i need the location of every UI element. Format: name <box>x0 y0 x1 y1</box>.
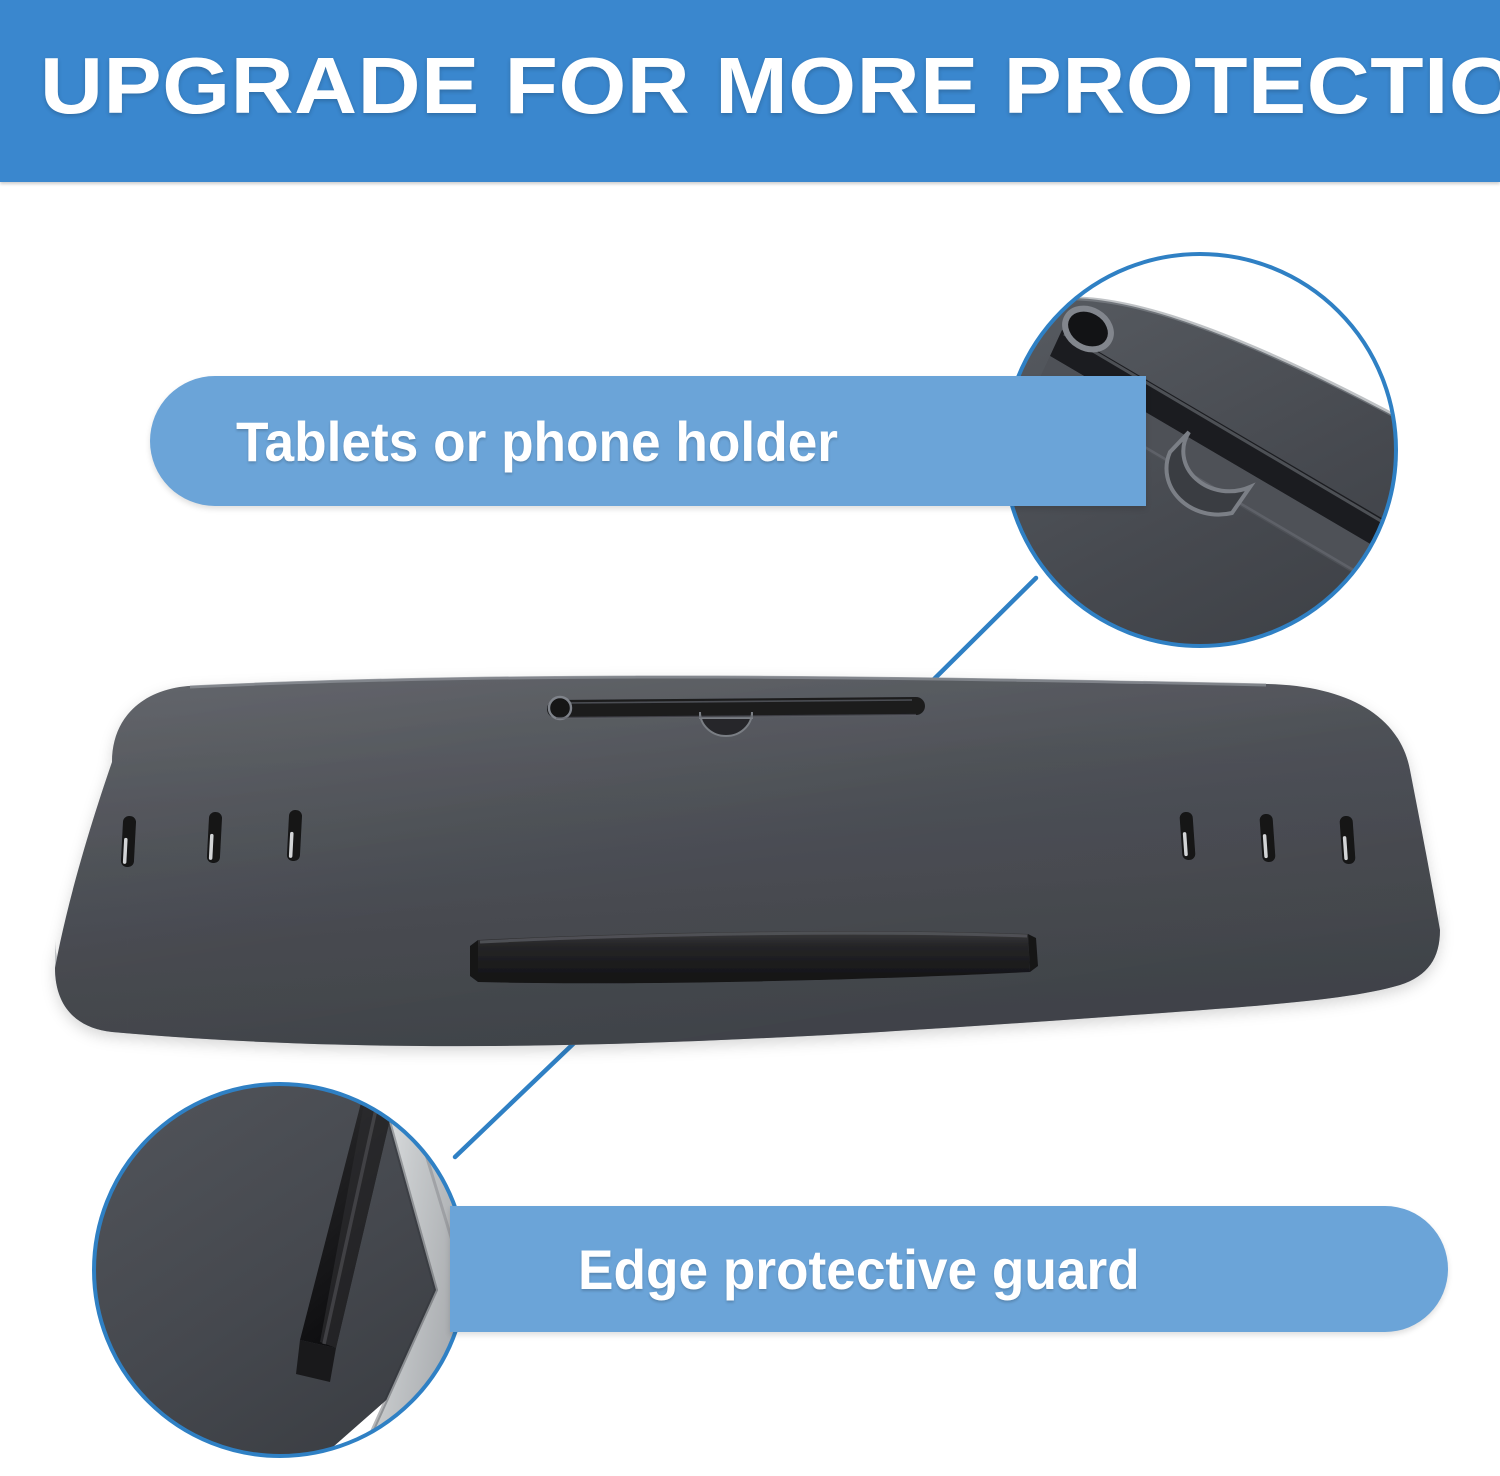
product-infographic: UPGRADE FOR MORE PROTECTION <box>0 0 1500 1476</box>
callout-label-tablets-phone-holder: Tablets or phone holder <box>236 409 838 474</box>
product-tray <box>55 676 1440 1046</box>
vent-slot <box>121 816 137 868</box>
callout-pill-edge-protective-guard: Edge protective guard <box>450 1206 1448 1332</box>
edge-guard-strip <box>470 931 1038 983</box>
zoom-inset-edge-guard <box>60 1060 500 1476</box>
callout-pill-tablets-phone-holder: Tablets or phone holder <box>150 376 1146 506</box>
vent-slot <box>207 812 223 864</box>
callout-label-edge-protective-guard: Edge protective guard <box>578 1237 1140 1302</box>
vent-slot <box>287 810 303 862</box>
pen-hole <box>549 697 571 719</box>
